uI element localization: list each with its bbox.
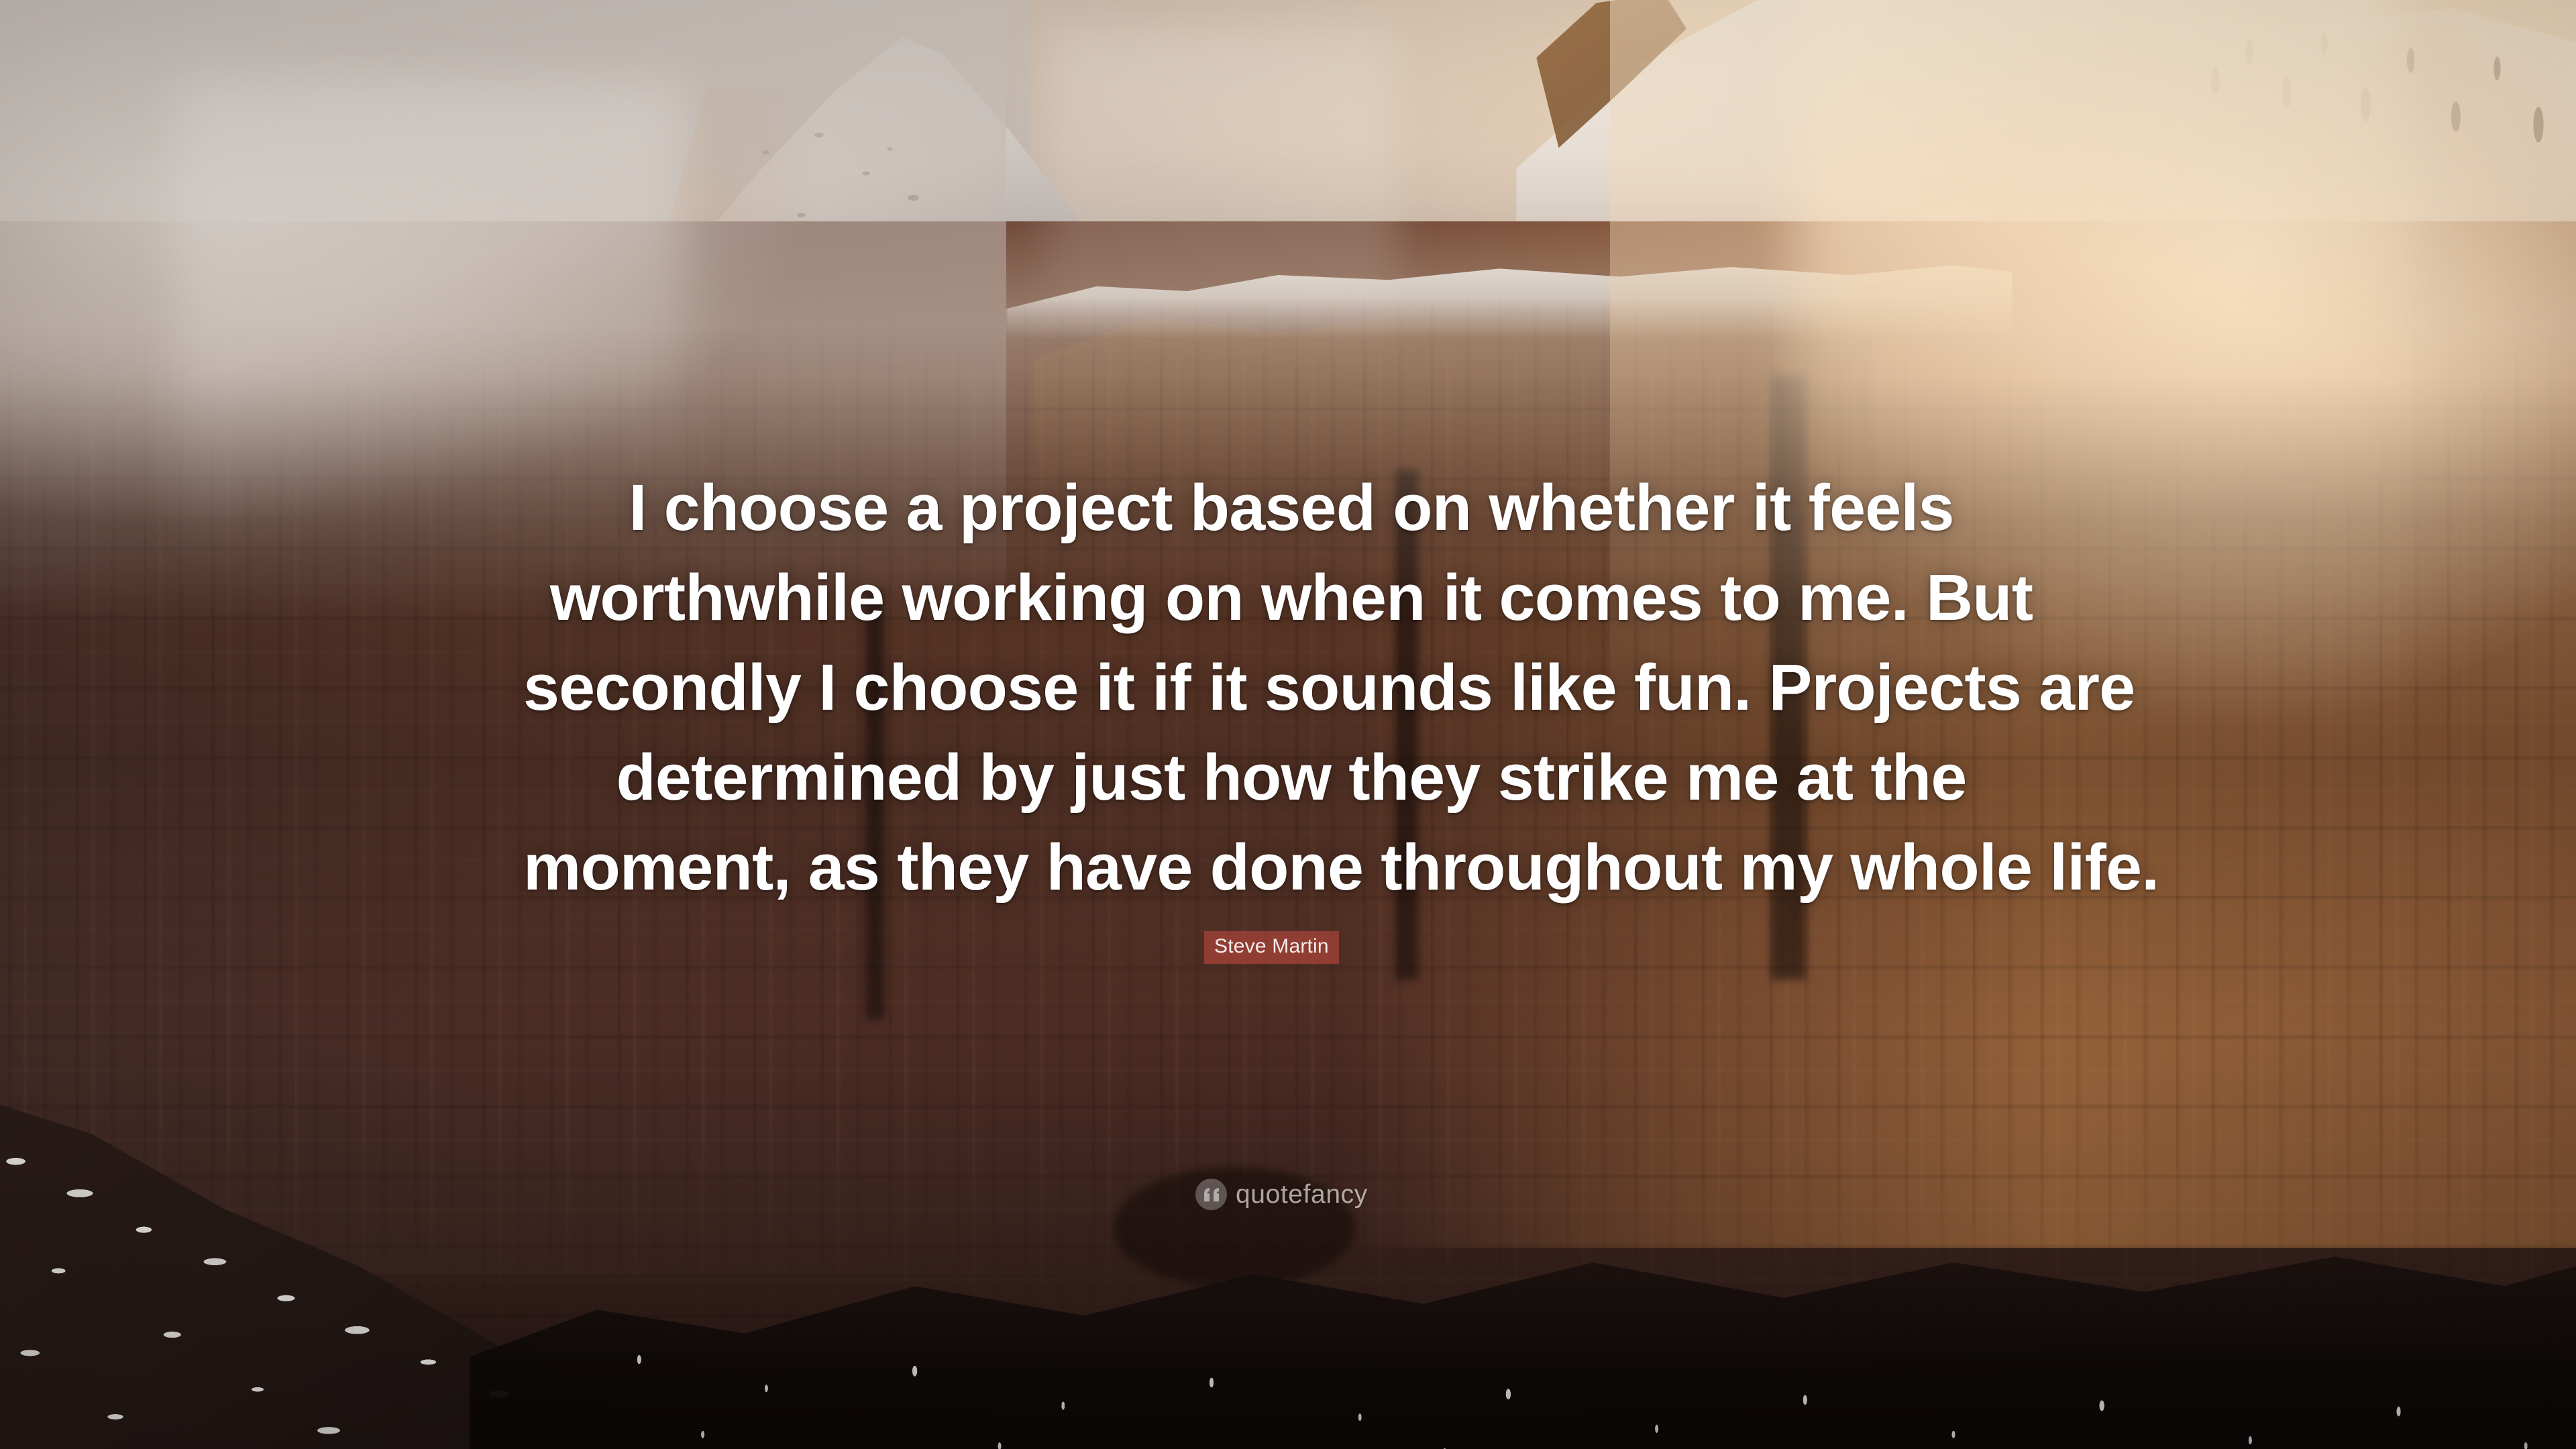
author-attribution-badge[interactable]: Steve Martin <box>1204 931 1339 964</box>
quote-line-2: worthwhile working on when it comes to m… <box>523 553 2059 643</box>
quote-line-3: secondly I choose it if it sounds like f… <box>523 643 2059 733</box>
quote-line-5: moment, as they have done throughout my … <box>523 822 2059 912</box>
watermark-label: quotefancy <box>1236 1181 1368 1207</box>
quote-wallpaper: I choose a project based on whether it f… <box>0 0 2576 1449</box>
quotefancy-watermark[interactable]: quotefancy <box>1195 1179 1368 1210</box>
quote-line-1: I choose a project based on whether it f… <box>523 463 2059 553</box>
quote-text-block: I choose a project based on whether it f… <box>523 463 2059 912</box>
quote-line-4: determined by just how they strike me at… <box>523 733 2059 822</box>
quote-mark-icon <box>1195 1179 1227 1210</box>
